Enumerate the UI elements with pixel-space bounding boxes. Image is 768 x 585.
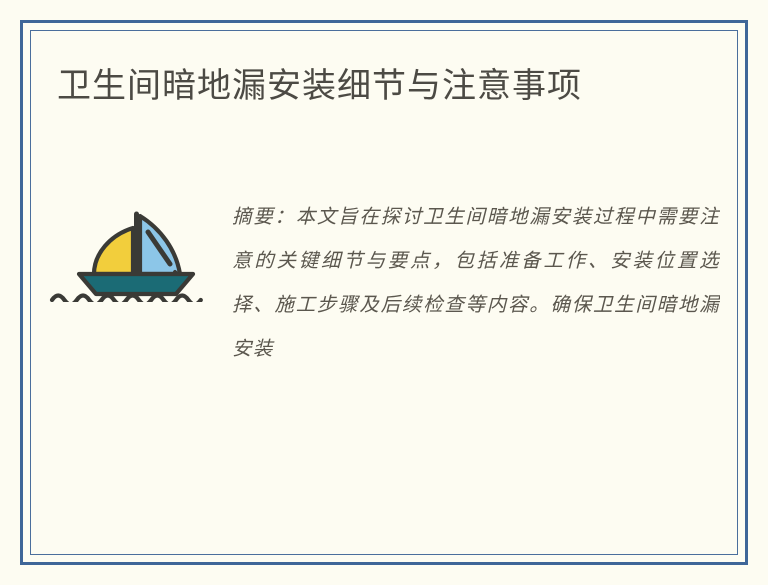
article-page: 卫生间暗地漏安装细节与注意事项 — [0, 0, 768, 585]
page-title: 卫生间暗地漏安装细节与注意事项 — [57, 60, 657, 113]
summary-paragraph: 摘要：本文旨在探讨卫生间暗地漏安装过程中需要注意的关键细节与要点，包括准备工作、… — [232, 196, 720, 372]
water-wave-icon — [52, 296, 201, 303]
sailboat-icon — [48, 202, 208, 302]
title-block: 卫生间暗地漏安装细节与注意事项 — [57, 60, 657, 113]
article-content: 摘要：本文旨在探讨卫生间暗地漏安装过程中需要注意的关键细节与要点，包括准备工作、… — [48, 196, 720, 372]
sailboat-illustration — [48, 196, 218, 302]
article-summary: 摘要：本文旨在探讨卫生间暗地漏安装过程中需要注意的关键细节与要点，包括准备工作、… — [232, 196, 720, 372]
